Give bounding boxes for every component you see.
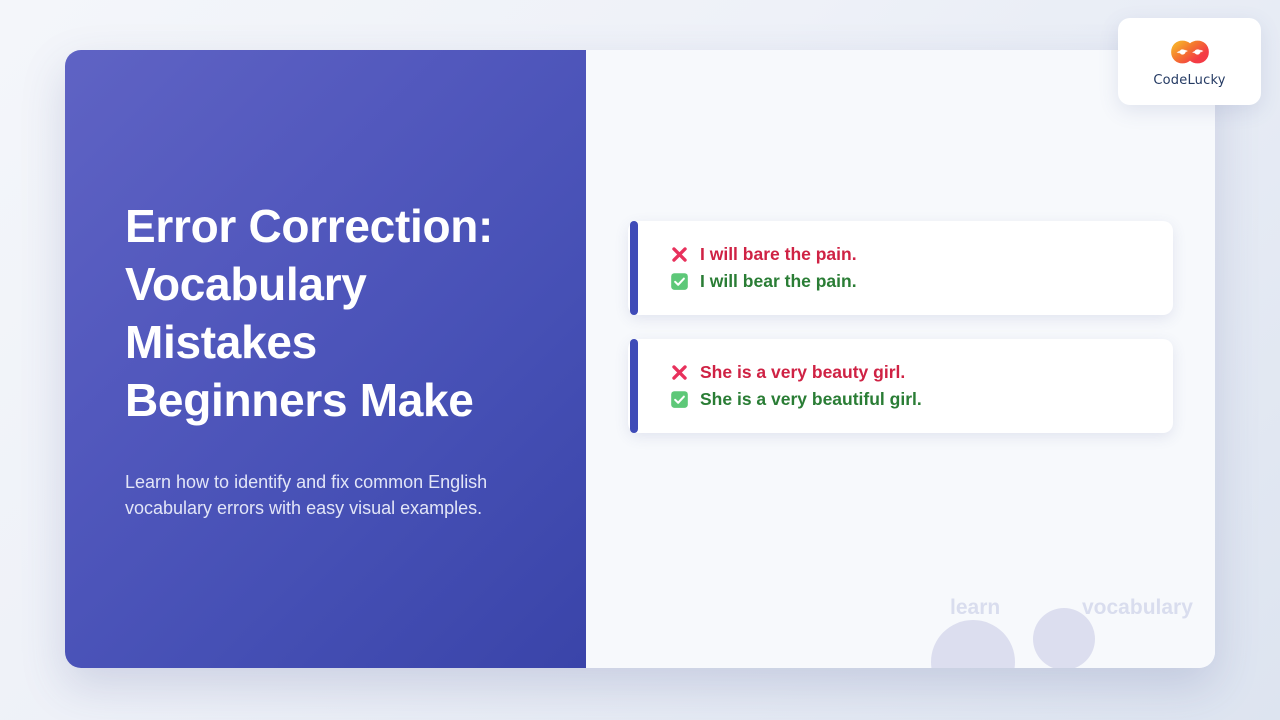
correct-sentence-row: She is a very beautiful girl. [668,386,1147,413]
hero-subtitle: Learn how to identify and fix common Eng… [125,469,505,521]
content-panel: learn vocabulary correct I will bare the… [586,50,1215,668]
page-title: Error Correction: Vocabulary Mistakes Be… [125,197,526,429]
hero-panel: Error Correction: Vocabulary Mistakes Be… [65,50,586,668]
example-card: I will bare the pain. I will bear the pa… [628,221,1173,315]
incorrect-sentence-row: She is a very beauty girl. [668,359,1147,386]
brand-name-label: CodeLucky [1153,73,1225,88]
examples-list: I will bare the pain. I will bear the pa… [628,221,1173,433]
correct-sentence-row: I will bear the pain. [668,268,1147,295]
decorative-word-learn: learn [950,596,1000,620]
brand-logo-badge[interactable]: CodeLucky [1118,18,1261,105]
incorrect-sentence-text: I will bare the pain. [700,241,857,268]
decorative-word-vocabulary: vocabulary [1082,596,1193,620]
decorative-circle-small [1033,608,1095,668]
decorative-circle-large [931,620,1015,668]
correct-sentence-text: I will bear the pain. [700,268,857,295]
cross-mark-icon [668,363,690,382]
incorrect-sentence-text: She is a very beauty girl. [700,359,905,386]
check-mark-icon [668,390,690,409]
example-card: She is a very beauty girl. She is a very… [628,339,1173,433]
slide-card: Error Correction: Vocabulary Mistakes Be… [65,50,1215,668]
check-mark-icon [668,272,690,291]
correct-sentence-text: She is a very beautiful girl. [700,386,922,413]
incorrect-sentence-row: I will bare the pain. [668,241,1147,268]
cross-mark-icon [668,245,690,264]
infinity-loop-icon [1159,35,1221,69]
